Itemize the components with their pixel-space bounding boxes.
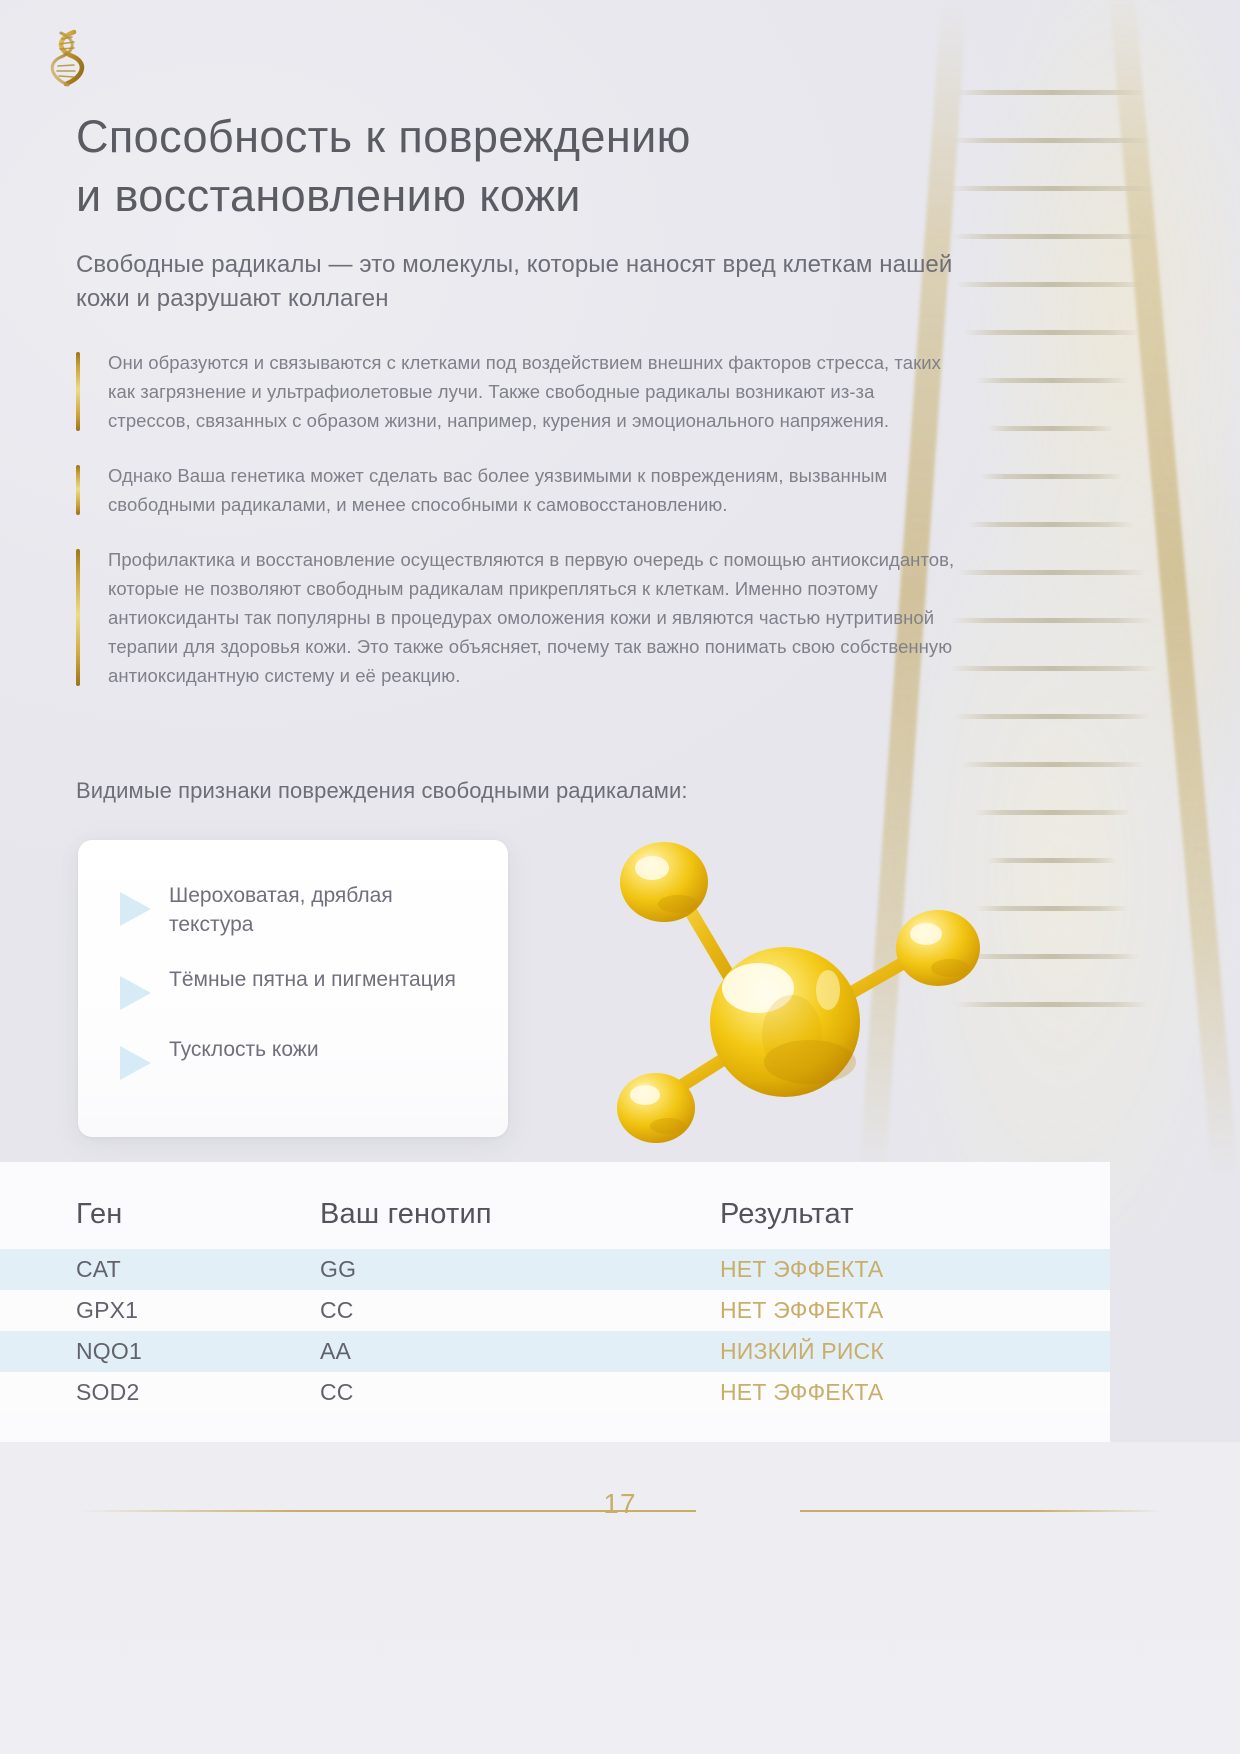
signs-heading: Видимые признаки повреждения свободными … — [76, 778, 976, 804]
gold-accent-bar — [76, 549, 80, 686]
cell-genotype: CC — [320, 1297, 720, 1324]
table-row: CAT GG НЕТ ЭФФЕКТА — [0, 1249, 1110, 1290]
page-lede: Свободные радикалы — это молекулы, котор… — [76, 248, 956, 316]
column-header-genotype: Ваш генотип — [320, 1198, 720, 1231]
page-number: 17 — [0, 1488, 1240, 1520]
cell-genotype: AA — [320, 1338, 720, 1365]
dna-helix-icon — [44, 28, 90, 90]
paragraph-text: Они образуются и связываются с клетками … — [108, 348, 956, 435]
gold-accent-bar — [76, 352, 80, 431]
list-item: Тёмные пятна и пигментация — [106, 966, 480, 1010]
gold-accent-bar — [76, 465, 80, 515]
table-row: GPX1 CC НЕТ ЭФФЕКТА — [0, 1290, 1110, 1331]
cell-gene: SOD2 — [0, 1379, 320, 1406]
cell-result: НЕТ ЭФФЕКТА — [720, 1379, 1110, 1406]
page-title: Способность к повреждению и восстановлен… — [76, 108, 976, 225]
list-item-label: Тусклость кожи — [169, 1036, 319, 1065]
genotype-results-table: Ген Ваш генотип Результат CAT GG НЕТ ЭФФ… — [0, 1162, 1110, 1442]
column-header-gene: Ген — [0, 1198, 320, 1231]
paragraph-block: Профилактика и восстановление осуществля… — [76, 545, 956, 690]
table-header-row: Ген Ваш генотип Результат — [0, 1162, 1110, 1249]
page-title-line-1: Способность к повреждению — [76, 111, 691, 162]
page-title-line-2: и восстановлению кожи — [76, 167, 976, 226]
paragraph-text: Профилактика и восстановление осуществля… — [108, 545, 956, 690]
column-header-result: Результат — [720, 1198, 1110, 1231]
triangle-right-icon — [120, 1046, 151, 1080]
cell-genotype: GG — [320, 1256, 720, 1283]
triangle-right-icon — [120, 892, 151, 926]
paragraph-blocks: Они образуются и связываются с клетками … — [76, 348, 956, 690]
cell-genotype: CC — [320, 1379, 720, 1406]
cell-gene: GPX1 — [0, 1297, 320, 1324]
cell-result: НЕТ ЭФФЕКТА — [720, 1256, 1110, 1283]
list-item: Шероховатая, дряблая текстура — [106, 882, 480, 940]
list-item-label: Тёмные пятна и пигментация — [169, 966, 456, 995]
triangle-right-icon — [120, 976, 151, 1010]
paragraph-text: Однако Ваша генетика может сделать вас б… — [108, 461, 956, 519]
molecule-illustration — [560, 830, 1030, 1150]
table-row: SOD2 CC НЕТ ЭФФЕКТА — [0, 1372, 1110, 1413]
visible-signs-card: Шероховатая, дряблая текстура Тёмные пят… — [78, 840, 508, 1137]
list-item: Тусклость кожи — [106, 1036, 480, 1080]
cell-gene: NQO1 — [0, 1338, 320, 1365]
report-page: Способность к повреждению и восстановлен… — [0, 0, 1240, 1754]
table-row: NQO1 AA НИЗКИЙ РИСК — [0, 1331, 1110, 1372]
list-item-label: Шероховатая, дряблая текстура — [169, 882, 480, 940]
paragraph-block: Однако Ваша генетика может сделать вас б… — [76, 461, 956, 519]
cell-result: НЕТ ЭФФЕКТА — [720, 1297, 1110, 1324]
cell-gene: CAT — [0, 1256, 320, 1283]
cell-result: НИЗКИЙ РИСК — [720, 1338, 1110, 1365]
paragraph-block: Они образуются и связываются с клетками … — [76, 348, 956, 435]
page-footer: 17 — [0, 1488, 1240, 1534]
